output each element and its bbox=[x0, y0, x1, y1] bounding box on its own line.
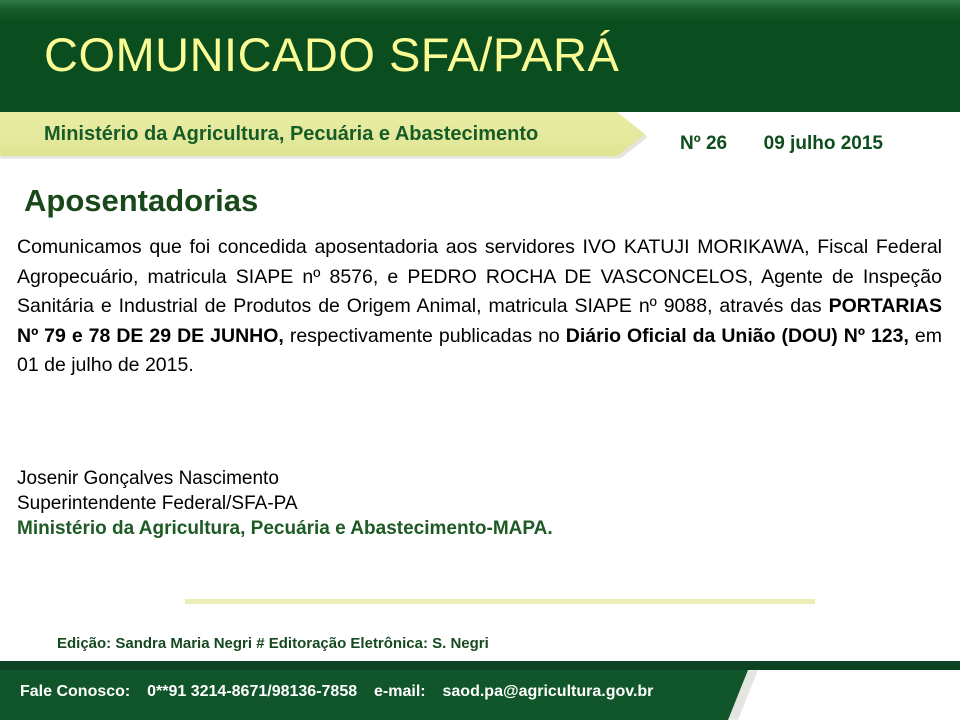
body-paragraph: Comunicamos que foi concedida aposentado… bbox=[17, 233, 942, 381]
footer-contact-line: Fale Conosco: 0**91 3214-8671/98136-7858… bbox=[20, 681, 653, 703]
signatory-organization: Ministério da Agricultura, Pecuária e Ab… bbox=[17, 516, 553, 541]
issue-info: Nº 26 09 julho 2015 bbox=[680, 131, 883, 157]
signatory-role: Superintendente Federal/SFA-PA bbox=[17, 491, 553, 516]
issue-number: Nº 26 bbox=[680, 133, 727, 154]
footer-phone: 0**91 3214-8671/98136-7858 bbox=[147, 683, 357, 700]
page-title: COMUNICADO SFA/PARÁ bbox=[44, 26, 619, 84]
footer-email-label: e-mail: bbox=[374, 683, 426, 700]
body-part-2: respectivamente publicadas no bbox=[284, 325, 566, 347]
ministry-band-container: Ministério da Agricultura, Pecuária e Ab… bbox=[0, 112, 660, 160]
header-gloss-highlight bbox=[0, 0, 960, 22]
body-part-1: Comunicamos que foi concedida aposentado… bbox=[17, 236, 942, 317]
body-bold-dou: Diário Oficial da União (DOU) Nº 123, bbox=[566, 325, 909, 347]
comunicado-page: { "header": { "title": "COMUNICADO SFA/P… bbox=[0, 0, 960, 720]
ministry-label: Ministério da Agricultura, Pecuária e Ab… bbox=[44, 120, 538, 148]
issue-date: 09 julho 2015 bbox=[764, 133, 883, 154]
section-title: Aposentadorias bbox=[24, 182, 258, 220]
footer-contact-label: Fale Conosco: bbox=[20, 683, 130, 700]
section-divider bbox=[185, 599, 815, 604]
signature-block: Josenir Gonçalves Nascimento Superintend… bbox=[17, 466, 553, 541]
footer-email-address[interactable]: saod.pa@agricultura.gov.br bbox=[443, 683, 654, 700]
footer-top-rule bbox=[0, 661, 960, 670]
signatory-name: Josenir Gonçalves Nascimento bbox=[17, 466, 553, 491]
edition-credits: Edição: Sandra Maria Negri # Editoração … bbox=[57, 634, 489, 654]
header-banner: COMUNICADO SFA/PARÁ bbox=[0, 0, 960, 112]
